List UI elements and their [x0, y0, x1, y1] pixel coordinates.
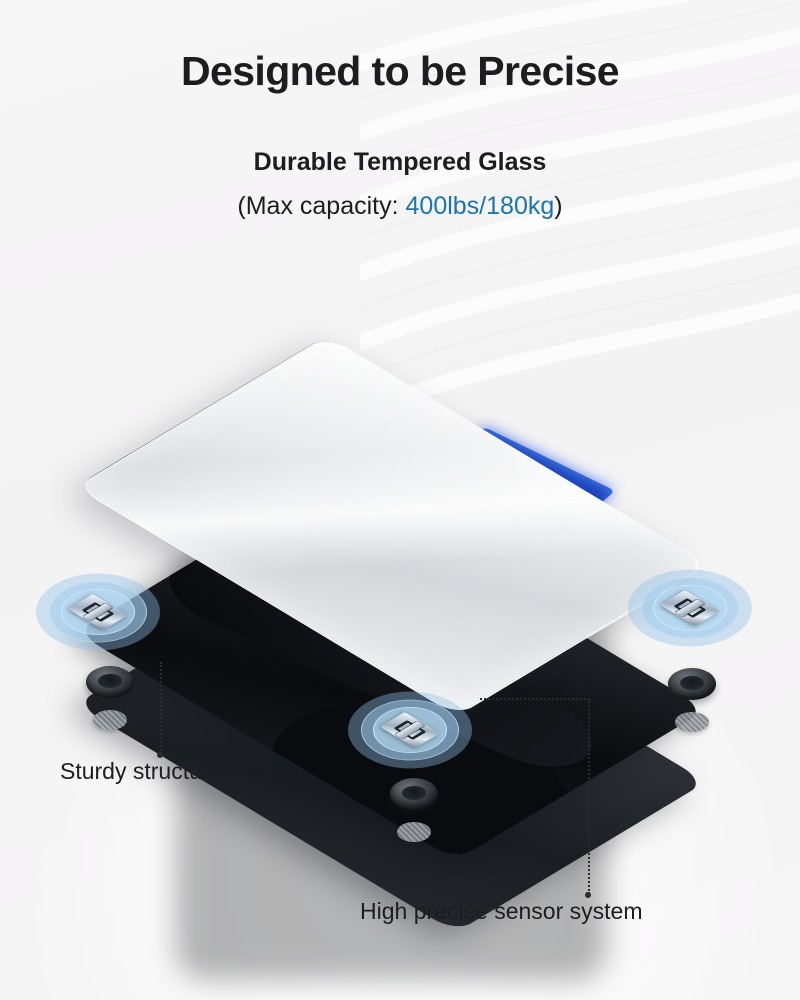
callout-leader-line: [480, 698, 590, 700]
capacity-prefix: (Max capacity:: [237, 192, 405, 220]
load-cell-sensor: [348, 668, 472, 792]
load-cell-sensor: [628, 546, 752, 670]
rubber-foot: [390, 778, 438, 810]
load-cell-sensor: [36, 550, 160, 674]
callout-leader-line: [160, 662, 162, 754]
rubber-foot: [86, 666, 134, 698]
capacity-value: 400lbs/180kg: [406, 192, 555, 220]
subtitle-primary: Durable Tempered Glass: [0, 148, 800, 177]
page-title: Designed to be Precise: [0, 48, 800, 95]
anti-slip-grip-pad: [675, 712, 709, 732]
callout-label-high-precise-sensor-system: High precise sensor system: [360, 898, 643, 925]
callout-leader-line: [588, 698, 590, 894]
product-feature-graphic: Designed to be Precise Durable Tempered …: [0, 0, 800, 1000]
product-exploded-view: 46.50 kg lb ▮▮▮: [0, 250, 800, 950]
subtitle-capacity: (Max capacity: 400lbs/180kg): [0, 192, 800, 221]
anti-slip-grip-pad: [93, 710, 127, 730]
anti-slip-grip-pad: [397, 822, 431, 842]
capacity-suffix: ): [554, 192, 562, 220]
callout-label-sturdy-structure: Sturdy structure: [60, 758, 222, 785]
rubber-foot: [668, 668, 716, 700]
